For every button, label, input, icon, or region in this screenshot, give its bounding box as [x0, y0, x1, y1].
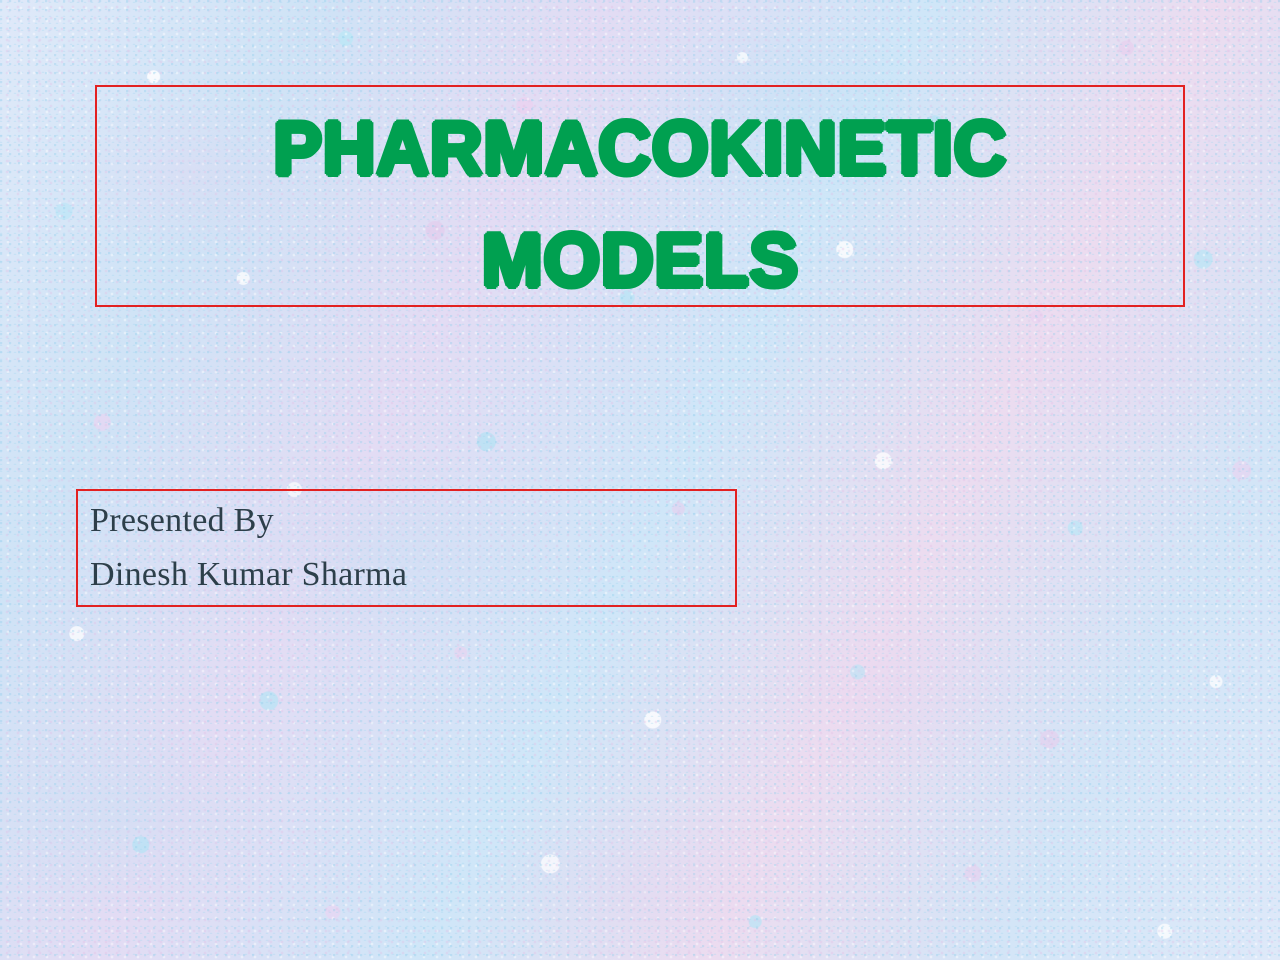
presentation-slide: PHARMACOKINETIC MODELS Presented By Dine…: [0, 0, 1280, 960]
title-text-box: PHARMACOKINETIC MODELS: [95, 85, 1185, 307]
slide-title-line-2: MODELS: [481, 211, 798, 309]
presenter-name: Dinesh Kumar Sharma: [90, 548, 735, 602]
presenter-text-box: Presented By Dinesh Kumar Sharma: [76, 489, 737, 607]
slide-title-line-1: PHARMACOKINETIC: [273, 99, 1007, 197]
presented-by-label: Presented By: [90, 494, 735, 548]
